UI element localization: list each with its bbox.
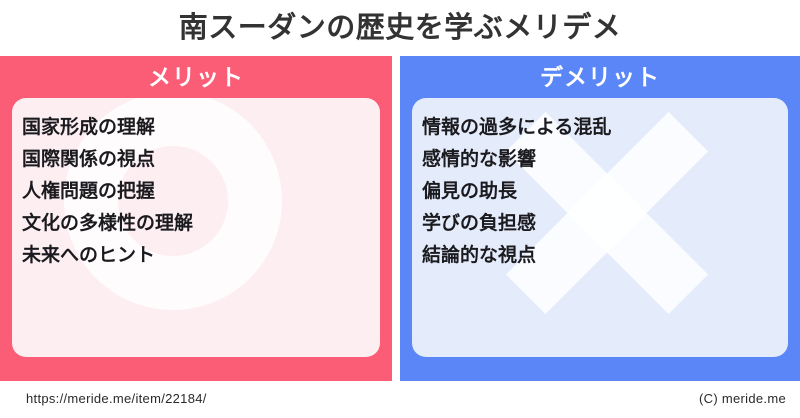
demerit-header: デメリット (400, 56, 800, 98)
demerit-header-label: デメリット (540, 66, 660, 89)
list-item: 感情的な影響 (422, 144, 788, 176)
demerit-panel: デメリット 情報の過多による混乱 感情的な影響 偏見の助長 学びの負担感 結論的… (400, 56, 800, 381)
merit-card: 国家形成の理解 国際関係の視点 人権問題の把握 文化の多様性の理解 未来へのヒン… (12, 98, 380, 357)
comparison-panels: メリット 国家形成の理解 国際関係の視点 人権問題の把握 文化の多様性の理解 未… (0, 56, 800, 381)
title-bar: 南スーダンの歴史を学ぶメリデメ (0, 0, 800, 56)
page-title: 南スーダンの歴史を学ぶメリデメ (179, 14, 622, 43)
panel-divider (392, 56, 400, 381)
source-url[interactable]: https://meride.me/item/22184/ (26, 391, 207, 406)
footer: https://meride.me/item/22184/ (C) meride… (0, 381, 800, 418)
merit-header: メリット (0, 56, 392, 98)
infographic-page: 南スーダンの歴史を学ぶメリデメ メリット 国家形成の理解 国際関係の視点 人権問… (0, 0, 800, 418)
list-item: 人権問題の把握 (22, 176, 380, 208)
demerit-card: 情報の過多による混乱 感情的な影響 偏見の助長 学びの負担感 結論的な視点 (412, 98, 788, 357)
list-item: 情報の過多による混乱 (422, 112, 788, 144)
list-item: 偏見の助長 (422, 176, 788, 208)
list-item: 学びの負担感 (422, 208, 788, 240)
list-item: 結論的な視点 (422, 240, 788, 272)
list-item: 国家形成の理解 (22, 112, 380, 144)
demerit-item-list: 情報の過多による混乱 感情的な影響 偏見の助長 学びの負担感 結論的な視点 (412, 98, 788, 272)
merit-panel: メリット 国家形成の理解 国際関係の視点 人権問題の把握 文化の多様性の理解 未… (0, 56, 392, 381)
list-item: 国際関係の視点 (22, 144, 380, 176)
list-item: 文化の多様性の理解 (22, 208, 380, 240)
merit-item-list: 国家形成の理解 国際関係の視点 人権問題の把握 文化の多様性の理解 未来へのヒン… (12, 98, 380, 272)
copyright-label: (C) meride.me (699, 391, 786, 406)
merit-header-label: メリット (148, 66, 244, 89)
list-item: 未来へのヒント (22, 240, 380, 272)
